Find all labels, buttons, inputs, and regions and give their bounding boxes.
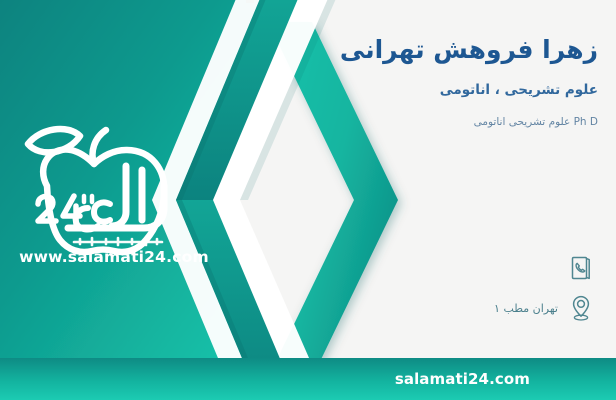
- profile-degree: Ph D علوم تشریحی اناتومی: [248, 115, 598, 130]
- page-title: زهرا فروهش تهرانی: [248, 34, 598, 65]
- location-pin-icon[interactable]: [568, 293, 594, 323]
- footer-bar: salamati24.com: [0, 358, 616, 400]
- contact-row-location[interactable]: تهران مطب ۱: [264, 288, 594, 328]
- contact-label-location: تهران مطب ۱: [494, 303, 558, 314]
- footer-site-url[interactable]: salamati24.com: [395, 370, 530, 388]
- contact-list: تهران مطب ۱: [264, 248, 594, 328]
- profile-info: زهرا فروهش تهرانی علوم تشریحی ، اناتومی …: [248, 34, 598, 130]
- phone-book-icon[interactable]: [568, 253, 594, 283]
- profile-card: www.salamati24.com زهرا فروهش تهرانی علو…: [0, 0, 616, 400]
- contact-row-phone[interactable]: [264, 248, 594, 288]
- profile-specialty: علوم تشریحی ، اناتومی: [248, 81, 598, 100]
